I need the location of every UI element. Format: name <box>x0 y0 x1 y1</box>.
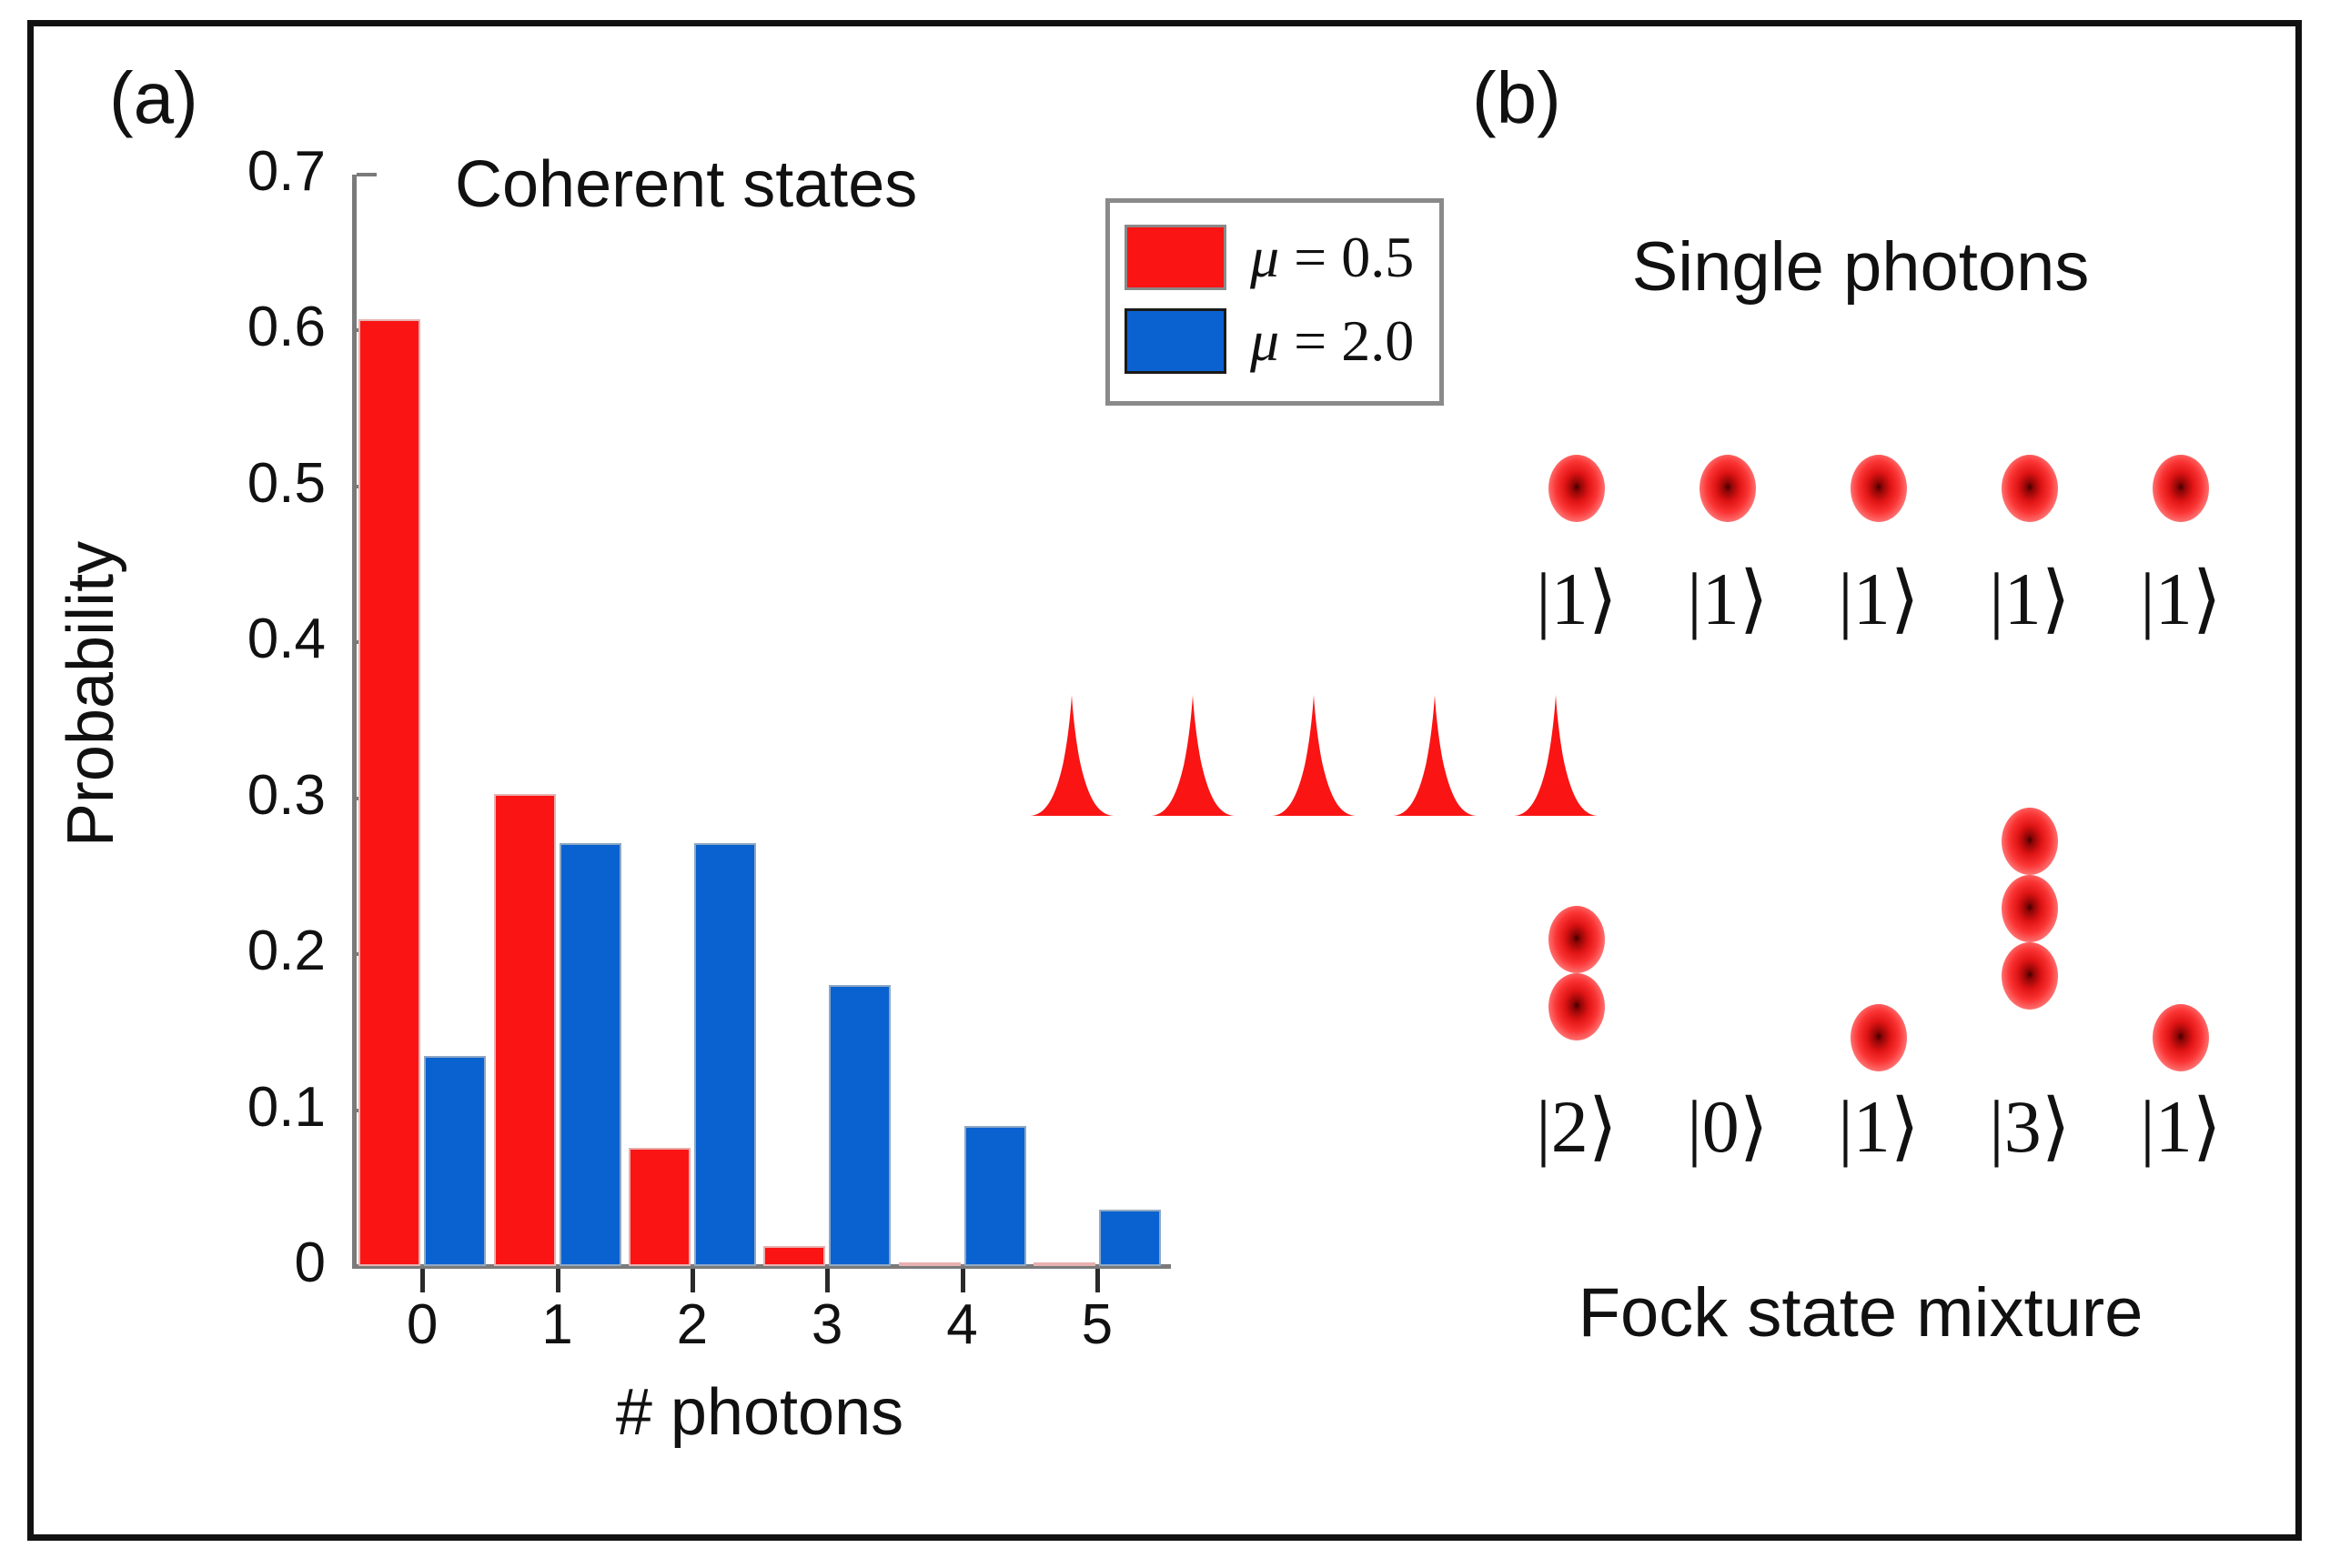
photon-dot-grid-top <box>1501 438 2256 538</box>
ket-row-bottom: |2⟩|0⟩|1⟩|3⟩|1⟩ <box>1501 1090 2256 1164</box>
photon-column-4 <box>2105 438 2256 538</box>
photon-dot <box>2002 942 2058 1010</box>
ket-label-4: |1⟩ <box>2105 1090 2256 1164</box>
photon-dot <box>2002 455 2058 522</box>
photon-dot <box>1700 455 1756 522</box>
gaussian-pulse-icon-0 <box>1028 693 1115 816</box>
y-tick-label-1: 0.1 <box>180 1080 326 1136</box>
photon-column-2 <box>1803 771 1954 1071</box>
photon-dot <box>2153 455 2209 522</box>
ket-label-2: |1⟩ <box>1803 562 1954 637</box>
x-tick-5 <box>1095 1269 1100 1292</box>
photon-dot <box>1548 455 1605 522</box>
photon-dot <box>2002 875 2058 942</box>
photon-column-3 <box>1954 771 2105 1071</box>
ket-label-0: |1⟩ <box>1501 562 1652 637</box>
bar-series-0-n-1 <box>494 794 556 1266</box>
photon-dot <box>1851 455 1907 522</box>
bar-series-1-n-1 <box>560 843 621 1266</box>
chart-panel-a: Coherent states Probability # photons 00… <box>27 20 1419 1541</box>
photon-dot <box>1548 906 1605 973</box>
photon-column-2 <box>1803 438 1954 538</box>
legend-swatch-blue <box>1125 308 1226 374</box>
bar-series-0-n-4 <box>899 1262 961 1266</box>
x-tick-2 <box>691 1269 695 1292</box>
ket-row-top: |1⟩|1⟩|1⟩|1⟩|1⟩ <box>1501 562 2256 637</box>
photon-column-0 <box>1501 438 1652 538</box>
ket-label-4: |1⟩ <box>2105 562 2256 637</box>
photon-dot <box>2002 808 2058 875</box>
bar-series-0-n-0 <box>358 319 420 1266</box>
x-tick-1 <box>556 1269 560 1292</box>
legend-item-mu-0-5: μ = 0.5 <box>1125 216 1425 299</box>
gaussian-pulse-icon-2 <box>1270 693 1357 816</box>
photon-column-3 <box>1954 438 2105 538</box>
photon-column-1 <box>1652 771 1803 1071</box>
y-tick-label-4: 0.4 <box>180 611 326 668</box>
bar-series-1-n-2 <box>694 843 756 1266</box>
bar-series-1-n-4 <box>964 1126 1026 1266</box>
bar-series-1-n-5 <box>1099 1210 1161 1266</box>
y-axis-label: Probability <box>54 421 128 967</box>
photon-dot <box>1851 1004 1907 1071</box>
x-tick-label-2: 2 <box>638 1297 747 1353</box>
photon-column-0 <box>1501 771 1652 1071</box>
x-axis-label: # photons <box>355 1375 1165 1450</box>
photon-panel-b: Single photons |1⟩|1⟩|1⟩|1⟩|1⟩ |2⟩|0⟩|1⟩… <box>1419 20 2302 1541</box>
bar-series-1-n-3 <box>829 985 891 1266</box>
ket-label-1: |1⟩ <box>1652 562 1803 637</box>
x-tick-label-4: 4 <box>908 1297 1017 1353</box>
bar-series-1-n-0 <box>424 1056 486 1266</box>
plot-area <box>355 175 1165 1266</box>
x-tick-label-1: 1 <box>503 1297 612 1353</box>
legend-swatch-red <box>1125 225 1226 290</box>
gaussian-pulse-icon-1 <box>1149 693 1236 816</box>
y-tick-label-0: 0 <box>180 1235 326 1292</box>
legend-item-mu-2-0: μ = 2.0 <box>1125 299 1425 383</box>
x-tick-0 <box>420 1269 425 1292</box>
single-photons-title: Single photons <box>1419 227 2302 307</box>
ket-label-2: |1⟩ <box>1803 1090 1954 1164</box>
bar-series-0-n-5 <box>1034 1262 1095 1266</box>
x-tick-3 <box>825 1269 830 1292</box>
y-tick-label-2: 0.2 <box>180 923 326 980</box>
photon-dot-grid-bottom <box>1501 771 2256 1071</box>
ket-label-3: |1⟩ <box>1954 562 2105 637</box>
ket-label-1: |0⟩ <box>1652 1090 1803 1164</box>
photon-column-4 <box>2105 771 2256 1071</box>
y-tick-label-7: 0.7 <box>180 144 326 200</box>
figure-root: (a) (b) Coherent states Probability # ph… <box>0 0 2330 1568</box>
fock-state-mixture-title: Fock state mixture <box>1419 1273 2302 1352</box>
x-tick-label-5: 5 <box>1043 1297 1152 1353</box>
legend-label-blue: μ = 2.0 <box>1250 307 1414 375</box>
ket-label-3: |3⟩ <box>1954 1090 2105 1164</box>
ket-label-0: |2⟩ <box>1501 1090 1652 1164</box>
y-tick-label-6: 0.6 <box>180 299 326 356</box>
photon-column-1 <box>1652 438 1803 538</box>
y-tick-label-5: 0.5 <box>180 456 326 512</box>
chart-legend: μ = 0.5 μ = 2.0 <box>1105 198 1444 406</box>
bar-series-0-n-3 <box>763 1246 825 1266</box>
x-tick-label-3: 3 <box>772 1297 882 1353</box>
y-tick-label-3: 0.3 <box>180 768 326 824</box>
bar-series-0-n-2 <box>629 1148 691 1266</box>
x-tick-label-0: 0 <box>368 1297 477 1353</box>
legend-label-red: μ = 0.5 <box>1250 224 1414 291</box>
photon-dot <box>1548 973 1605 1040</box>
photon-dot <box>2153 1004 2209 1071</box>
x-tick-4 <box>961 1269 965 1292</box>
